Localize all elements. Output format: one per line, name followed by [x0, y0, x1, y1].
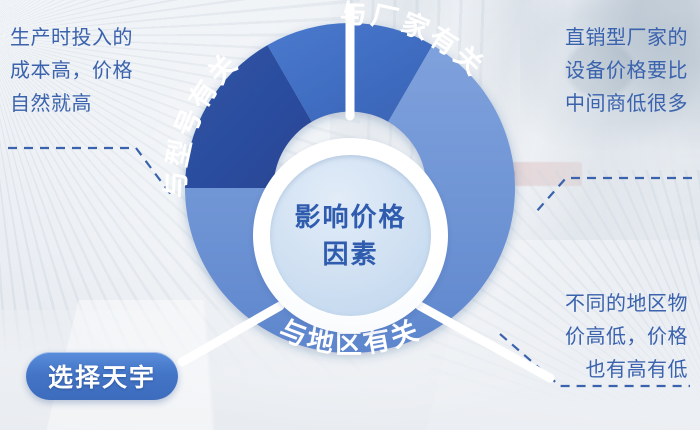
callout-top-right-line-2: 设备价格要比 [565, 55, 688, 88]
infographic-canvas: 与型号有关 与厂家有关 与地区有关 影响价格 因素 生产时投入的 成本高，价格 … [0, 0, 700, 430]
callout-bottom-right: 不同的地区物 价高低，价格 也有高有低 [565, 288, 688, 387]
callout-top-left-line-3: 自然就高 [10, 88, 133, 121]
callout-top-left-line-2: 成本高，价格 [10, 55, 133, 88]
callout-bottom-right-line-1: 不同的地区物 [565, 288, 688, 321]
center-title-line2: 因素 [322, 241, 378, 267]
brand-badge-label: 选择天宇 [48, 358, 156, 394]
callout-top-right-line-1: 直销型厂家的 [565, 22, 688, 55]
callout-top-right: 直销型厂家的 设备价格要比 中间商低很多 [565, 22, 688, 121]
callout-top-left: 生产时投入的 成本高，价格 自然就高 [10, 22, 133, 121]
callout-top-right-line-3: 中间商低很多 [565, 88, 688, 121]
center-inner: 影响价格 因素 [270, 155, 431, 316]
callout-bottom-right-line-2: 价高低，价格 [565, 321, 688, 354]
center-disc: 影响价格 因素 [253, 138, 448, 333]
center-title-line1: 影响价格 [294, 204, 406, 230]
callout-bottom-right-line-3: 也有高有低 [565, 354, 688, 387]
brand-badge[interactable]: 选择天宇 [26, 352, 178, 400]
callout-top-left-line-1: 生产时投入的 [10, 22, 133, 55]
